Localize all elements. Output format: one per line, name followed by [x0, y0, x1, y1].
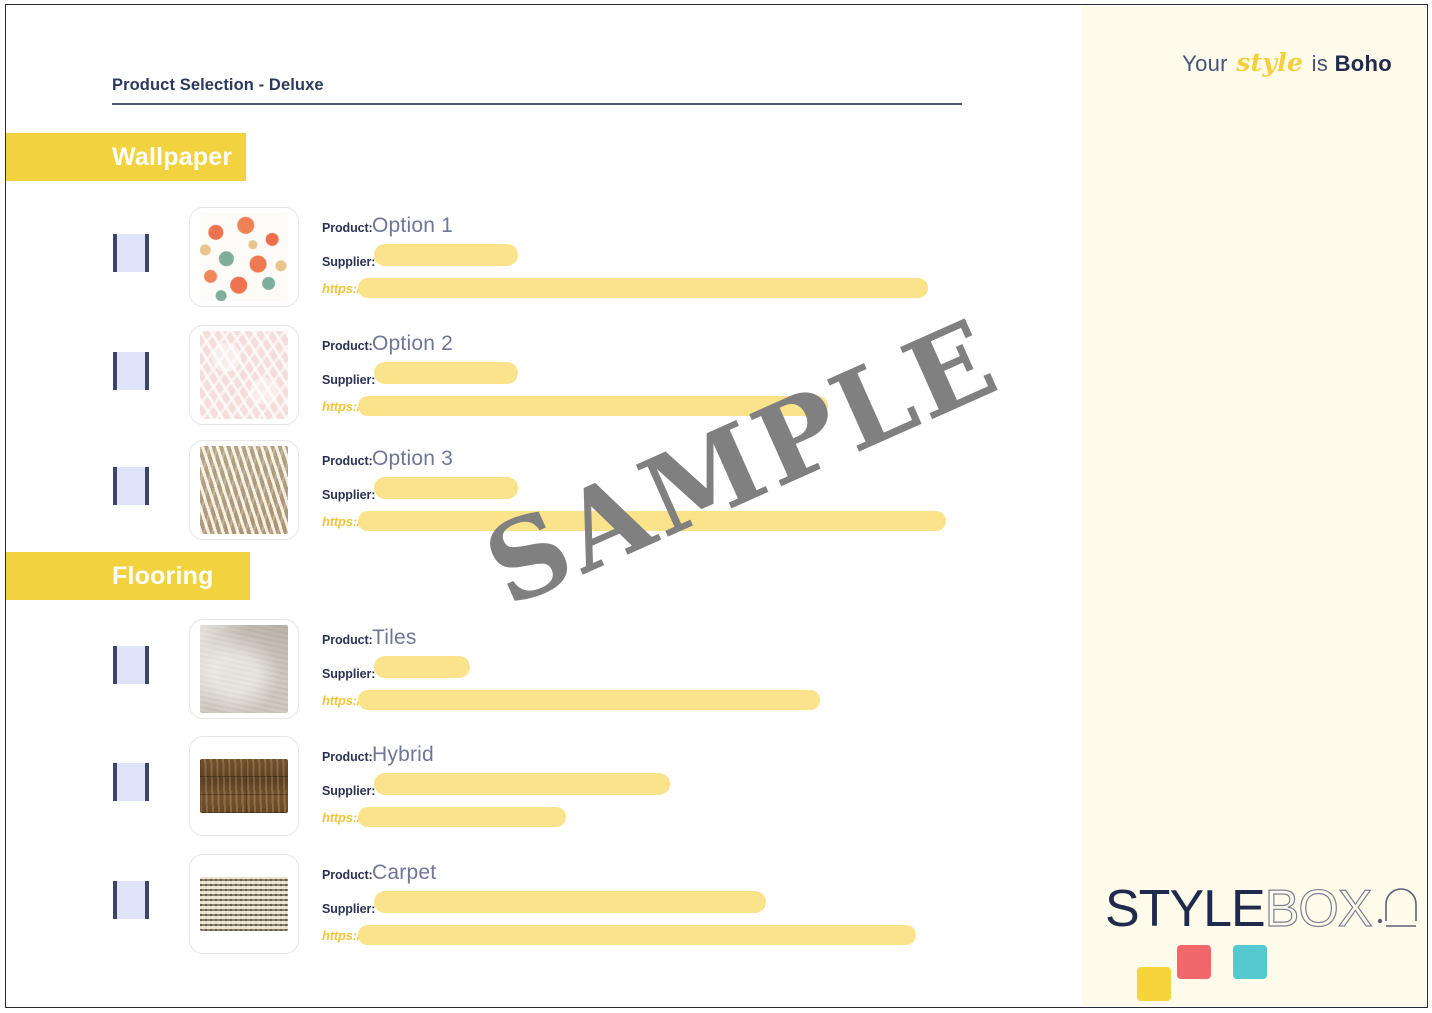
supplier-label: Supplier: [322, 784, 372, 798]
product-name-line: Product:Hybrid [322, 743, 1022, 773]
logo-square-teal [1233, 945, 1267, 979]
product-info: Product:Option 1Supplier:https:// [322, 214, 1022, 302]
url-redaction [358, 690, 820, 710]
product-label: Product: [322, 750, 372, 764]
logo-text-box: BOX [1265, 883, 1372, 935]
product-label: Product: [322, 339, 372, 353]
page-title: Product Selection - Deluxe [112, 76, 962, 103]
product-thumbnail[interactable] [189, 440, 299, 540]
product-thumbnail[interactable] [189, 854, 299, 954]
product-thumbnail[interactable] [189, 619, 299, 719]
swatch-floral-coral-teal [200, 213, 288, 301]
supplier-redaction [374, 773, 670, 795]
product-thumbnail[interactable] [189, 736, 299, 836]
product-name-value: Tiles [372, 626, 417, 650]
product-row[interactable]: Product:Option 1Supplier:https:// [0, 202, 1060, 312]
product-url-line[interactable]: https:// [322, 274, 1022, 302]
product-url-line[interactable]: https:// [322, 803, 1022, 831]
supplier-redaction [374, 656, 470, 678]
supplier-label: Supplier: [322, 667, 372, 681]
product-info: Product:TilesSupplier:https:// [322, 626, 1022, 714]
product-row[interactable]: Product:HybridSupplier:https:// [0, 731, 1060, 841]
supplier-redaction [374, 244, 518, 266]
logo-text-style: STYLE [1105, 883, 1265, 935]
supplier-redaction [374, 477, 518, 499]
category-label: Wallpaper [6, 143, 232, 172]
swatch-stone-grey-tile [200, 625, 288, 713]
selection-checkbox[interactable] [113, 646, 149, 684]
brand-tagline: Your style is Boho [1182, 48, 1392, 77]
tagline-word-your: Your [1182, 51, 1228, 76]
url-redaction [358, 807, 566, 827]
supplier-redaction [374, 362, 518, 384]
supplier-line: Supplier: [322, 656, 1022, 686]
product-row[interactable]: Product:CarpetSupplier:https:// [0, 849, 1060, 959]
document-header: Product Selection - Deluxe [112, 76, 962, 105]
url-redaction [358, 925, 916, 945]
product-name-value: Option 1 [372, 214, 453, 238]
title-divider [112, 103, 962, 105]
category-banner-flooring: Flooring [6, 552, 250, 600]
product-info: Product:HybridSupplier:https:// [322, 743, 1022, 831]
product-name-line: Product:Carpet [322, 861, 1022, 891]
product-name-value: Option 2 [372, 332, 453, 356]
product-name-value: Hybrid [372, 743, 434, 767]
product-label: Product: [322, 868, 372, 882]
logo-square-red [1177, 945, 1211, 979]
product-name-line: Product:Option 1 [322, 214, 1022, 244]
product-name-value: Option 3 [372, 447, 453, 471]
product-name-value: Carpet [372, 861, 436, 885]
tagline-word-is: is [1312, 51, 1329, 76]
selection-checkbox[interactable] [113, 352, 149, 390]
swatch-pink-botanical [200, 331, 288, 419]
swatch-wood-dark-plank [200, 759, 288, 813]
swatch-woven-carpet-beige [200, 877, 288, 931]
supplier-label: Supplier: [322, 902, 372, 916]
supplier-redaction [374, 891, 766, 913]
tagline-word-boho: Boho [1335, 51, 1392, 76]
logo-color-squares [1105, 945, 1405, 1007]
product-row[interactable]: Product:TilesSupplier:https:// [0, 614, 1060, 724]
category-banner-wallpaper: Wallpaper [6, 133, 246, 181]
tagline-word-style: style [1234, 48, 1305, 77]
selection-checkbox[interactable] [113, 763, 149, 801]
product-url-line[interactable]: https:// [322, 921, 1022, 949]
supplier-label: Supplier: [322, 373, 372, 387]
right-side-panel [1082, 6, 1426, 1006]
category-label: Flooring [6, 562, 214, 591]
product-info: Product:CarpetSupplier:https:// [322, 861, 1022, 949]
selection-checkbox[interactable] [113, 881, 149, 919]
logo-square-yellow [1137, 967, 1171, 1001]
swatch-pampas-beige [200, 446, 288, 534]
logo-arch-icon [1376, 880, 1426, 939]
selection-checkbox[interactable] [113, 234, 149, 272]
supplier-label: Supplier: [322, 255, 372, 269]
stylebox-logo: STYLE BOX [1105, 878, 1405, 1007]
document-page: Product Selection - Deluxe Your style is… [0, 0, 1432, 1013]
product-label: Product: [322, 633, 372, 647]
product-label: Product: [322, 221, 372, 235]
product-url-line[interactable]: https:// [322, 686, 1022, 714]
supplier-line: Supplier: [322, 244, 1022, 274]
supplier-line: Supplier: [322, 773, 1022, 803]
supplier-line: Supplier: [322, 891, 1022, 921]
stylebox-wordmark: STYLE BOX [1105, 878, 1405, 939]
product-label: Product: [322, 454, 372, 468]
product-name-line: Product:Tiles [322, 626, 1022, 656]
product-thumbnail[interactable] [189, 207, 299, 307]
selection-checkbox[interactable] [113, 467, 149, 505]
product-thumbnail[interactable] [189, 325, 299, 425]
url-redaction [358, 278, 928, 298]
supplier-label: Supplier: [322, 488, 372, 502]
